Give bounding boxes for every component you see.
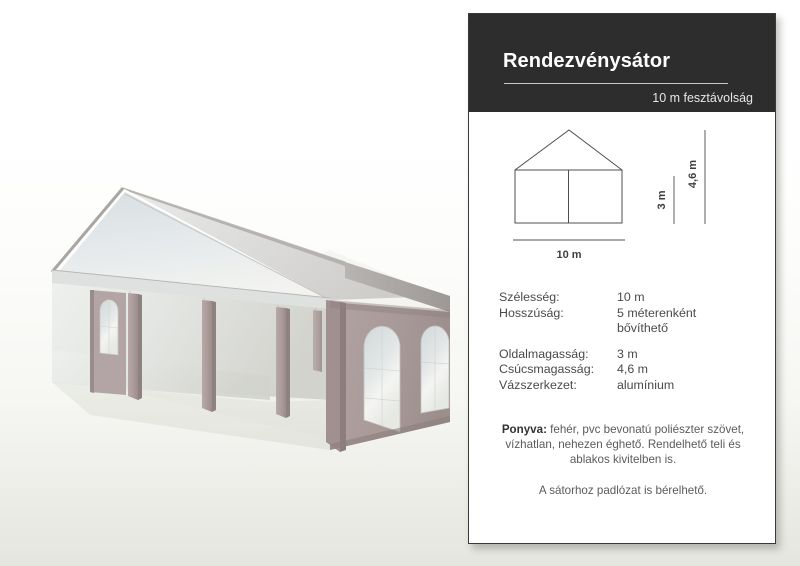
diagram-width-label: 10 m xyxy=(556,249,581,261)
spec-value: 10 m xyxy=(617,290,749,306)
card-header: Rendezvénysátor 10 m fesztávolság xyxy=(469,14,775,112)
spec-value: 3 m xyxy=(617,347,749,363)
spec-value: 4,6 m xyxy=(617,362,749,378)
card-body: 10 m 3 m 4,6 m Szélesség: 10 m Hosszúság… xyxy=(469,112,775,544)
specifications-list: Szélesség: 10 m Hosszúság: 5 méterenként… xyxy=(499,290,749,393)
fabric-note: Ponyva: fehér, pvc bevonatú poliészter s… xyxy=(495,422,751,467)
tent-cross-section-diagram: 10 m 3 m 4,6 m xyxy=(469,118,775,278)
page-title: Rendezvénysátor xyxy=(503,50,670,73)
floor-note-text: A sátorhoz padlózat is bérelhető. xyxy=(539,484,707,497)
spec-row-frame: Vázszerkezet: alumínium xyxy=(499,378,749,394)
spec-label: Oldalmagasság: xyxy=(499,347,617,363)
spec-row-length: Hosszúság: 5 méterenként xyxy=(499,306,749,322)
page-root: Rendezvénysátor 10 m fesztávolság 10 m xyxy=(0,0,800,566)
product-info-card: Rendezvénysátor 10 m fesztávolság 10 m xyxy=(468,13,776,544)
diagram-peak-height-label: 4,6 m xyxy=(687,160,699,188)
spec-row-side-height: Oldalmagasság: 3 m xyxy=(499,347,749,363)
spec-row-width: Szélesség: 10 m xyxy=(499,290,749,306)
spec-value: 5 méterenként xyxy=(617,306,749,322)
title-divider xyxy=(504,83,728,84)
spec-label: Csúcsmagasság: xyxy=(499,362,617,378)
spec-spacer xyxy=(499,337,749,347)
card-subtitle: 10 m fesztávolság xyxy=(652,91,753,105)
diagram-side-height-label: 3 m xyxy=(656,190,668,209)
spec-label: Vázszerkezet: xyxy=(499,378,617,394)
spec-row-peak-height: Csúcsmagasság: 4,6 m xyxy=(499,362,749,378)
spec-row-length-continued: bővíthető xyxy=(499,321,749,337)
spec-label: Hosszúság: xyxy=(499,306,617,322)
tent-illustration xyxy=(30,150,490,470)
spec-value: bővíthető xyxy=(617,321,668,335)
floor-note: A sátorhoz padlózat is bérelhető. xyxy=(495,483,751,498)
spec-value: alumínium xyxy=(617,378,749,394)
fabric-note-label: Ponyva: xyxy=(502,423,547,436)
spec-label: Szélesség: xyxy=(499,290,617,306)
